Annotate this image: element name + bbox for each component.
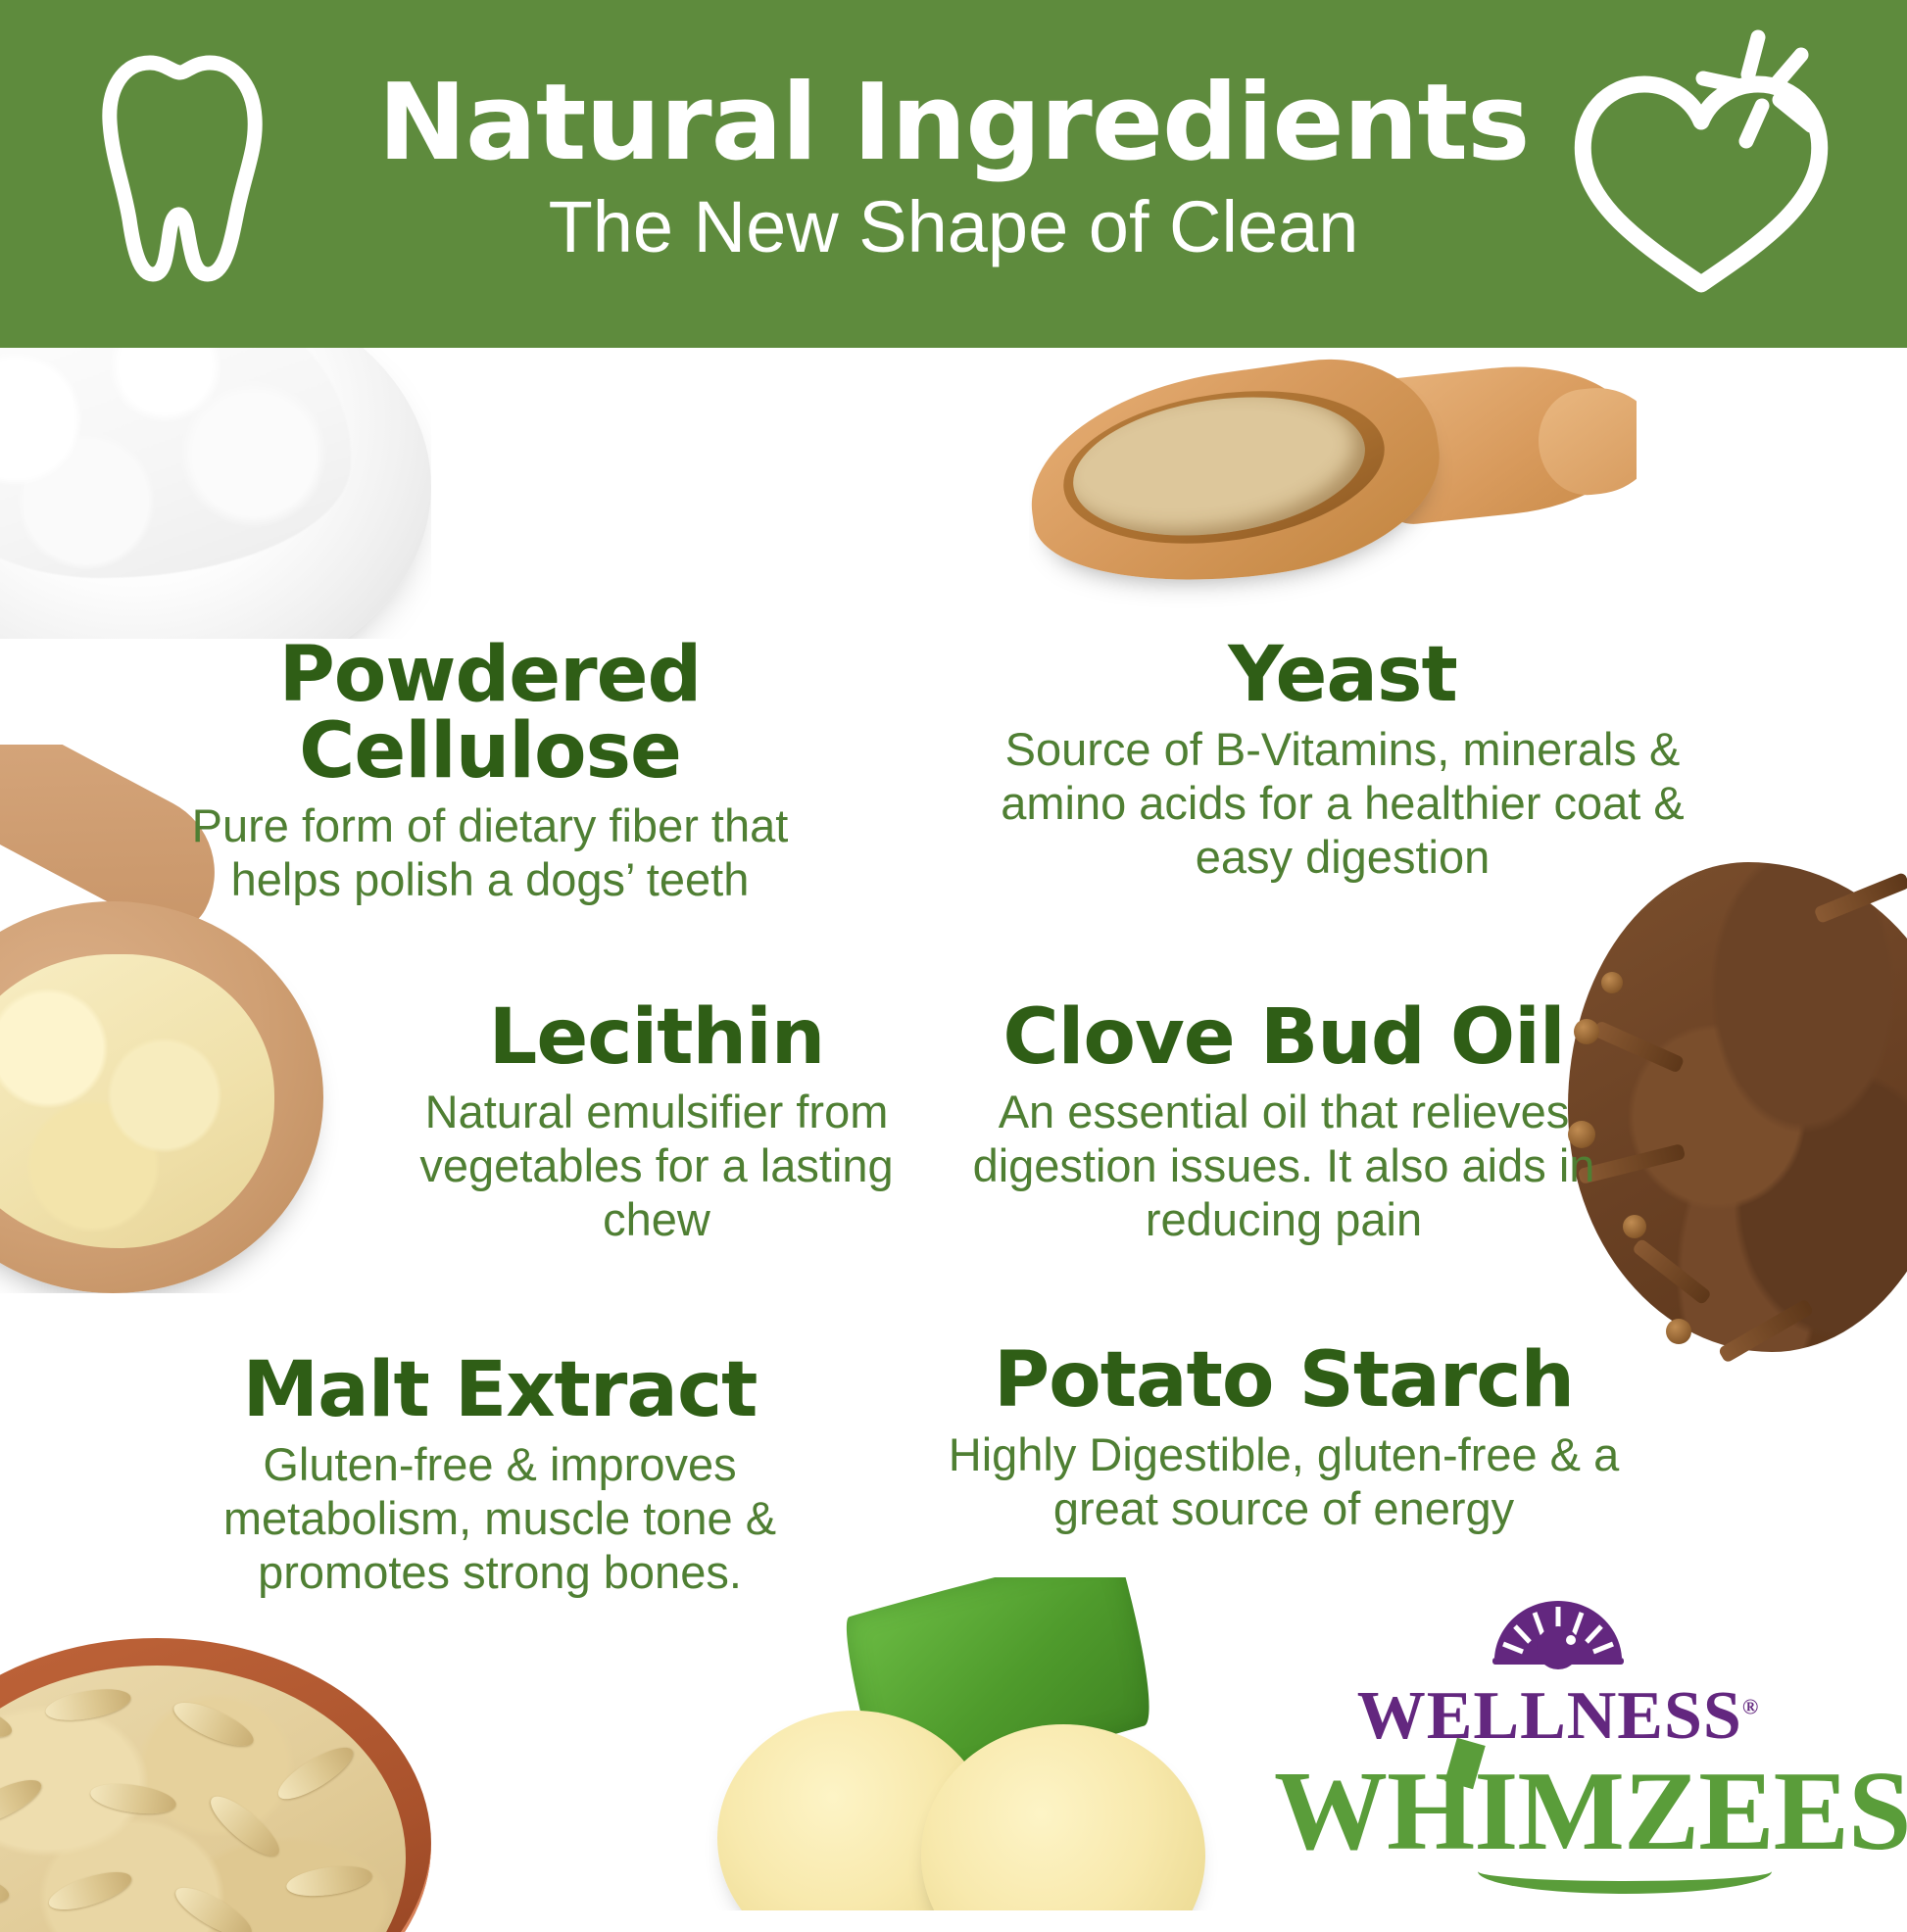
heart-sparkle-icon — [1554, 27, 1848, 316]
ingredient-powdered-cellulose: Powdered Cellulose Pure form of dietary … — [176, 637, 804, 907]
ingredient-title: Lecithin — [412, 999, 902, 1076]
ingredient-clove-bud-oil: Clove Bud Oil An essential oil that reli… — [951, 999, 1617, 1247]
ingredient-description: Gluten-free & improves metabolism, muscl… — [196, 1438, 804, 1600]
barley-grain — [88, 1779, 177, 1818]
brand-logo: WELLNESS® WHIMZEES® — [1274, 1597, 1842, 1868]
photo-clove-buds — [1568, 862, 1907, 1372]
ingredient-description: An essential oil that relieves digestion… — [951, 1086, 1617, 1247]
barley-grain — [0, 1771, 47, 1834]
ingredient-title: Clove Bud Oil — [951, 999, 1617, 1076]
ingredient-description: Natural emulsifier from vegetables for a… — [412, 1086, 902, 1247]
barley-grain — [43, 1684, 133, 1726]
ingredient-malt-extract: Malt Extract Gluten-free & improves meta… — [196, 1352, 804, 1600]
ingredient-title: Malt Extract — [196, 1352, 804, 1428]
barley-grain — [284, 1861, 373, 1901]
sunburst-emblem-icon — [1274, 1597, 1842, 1686]
ingredient-lecithin: Lecithin Natural emulsifier from vegetab… — [412, 999, 902, 1247]
brand-name-wellness: WELLNESS® — [1274, 1682, 1842, 1751]
ingredient-description: Source of B-Vitamins, minerals & amino a… — [1000, 723, 1686, 885]
brand-wellness-text: WELLNESS — [1357, 1678, 1742, 1754]
clove-pile-shape — [1568, 862, 1907, 1352]
photo-powdered-cellulose — [0, 345, 431, 639]
ingredient-description: Pure form of dietary fiber that helps po… — [176, 799, 804, 907]
barley-grain — [45, 1864, 135, 1917]
photo-potato-slices — [676, 1577, 1225, 1910]
logo-swoosh — [1478, 1849, 1772, 1894]
ingredient-yeast: Yeast Source of B-Vitamins, minerals & a… — [1000, 637, 1686, 885]
header-band: Natural Ingredients The New Shape of Cle… — [0, 0, 1907, 348]
clove-bud — [1666, 1319, 1691, 1344]
clove-bud — [1601, 972, 1623, 993]
photo-barley-bowl — [0, 1638, 470, 1932]
registered-mark: ® — [1742, 1695, 1759, 1719]
tooth-icon — [94, 47, 270, 297]
page-title: Natural Ingredients — [378, 71, 1530, 176]
ingredient-potato-starch: Potato Starch Highly Digestible, gluten-… — [941, 1342, 1627, 1536]
header-text-group: Natural Ingredients The New Shape of Cle… — [378, 71, 1530, 269]
clove-bud — [1623, 1215, 1646, 1238]
brand-name-whimzees: WHIMZEES® — [1274, 1755, 1907, 1868]
barley-grain — [271, 1739, 359, 1808]
ingredient-description: Highly Digestible, gluten-free & a great… — [941, 1428, 1627, 1536]
barley-grain — [203, 1788, 286, 1864]
barley-grain — [169, 1694, 259, 1754]
photo-yeast-scoop — [1029, 351, 1637, 615]
barley-grain — [170, 1879, 258, 1932]
barley-grain — [0, 1864, 12, 1909]
ingredient-title: Yeast — [1000, 637, 1686, 713]
page-subtitle: The New Shape of Clean — [378, 184, 1530, 269]
ingredient-title: Potato Starch — [941, 1342, 1627, 1419]
ingredient-title: Powdered Cellulose — [176, 637, 804, 790]
